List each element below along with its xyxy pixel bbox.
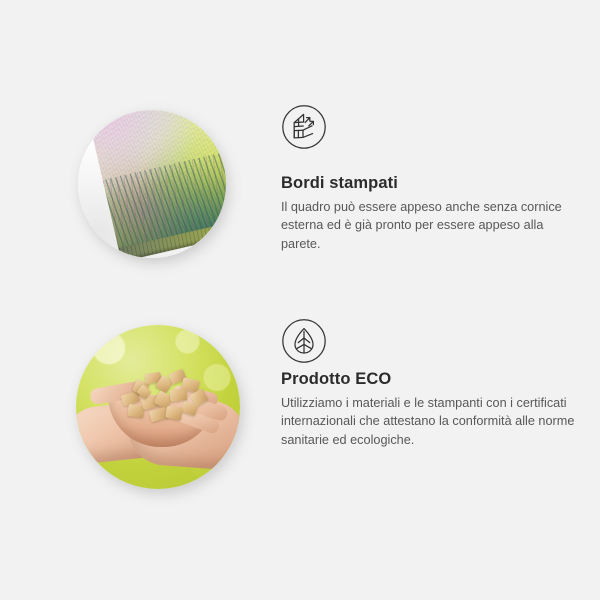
canvas-wrap-edges-icon [281,104,327,150]
feature-text-eco-product: Prodotto ECO Utilizziamo i materiali e l… [281,370,577,449]
feature-title: Bordi stampati [281,174,577,194]
feature-block-printed-edges: Bordi stampati Il quadro può essere appe… [0,104,600,274]
wood-chips-pile [120,371,208,423]
feature-title: Prodotto ECO [281,370,577,390]
wood-chip [169,388,187,402]
feature-description: Il quadro può essere appeso anche senza … [281,198,577,253]
canvas-print-corner-photo [78,110,226,258]
wood-chip [165,406,183,421]
hands-holding-wood-chips-photo [76,325,240,489]
feature-block-eco-product: Prodotto ECO Utilizziamo i materiali e l… [0,318,600,498]
feature-text-printed-edges: Bordi stampati Il quadro può essere appe… [281,174,577,253]
leaf-icon [281,318,327,364]
feature-description: Utilizziamo i materiali e le stampanti c… [281,394,577,449]
infographic-canvas: Bordi stampati Il quadro può essere appe… [0,0,600,600]
